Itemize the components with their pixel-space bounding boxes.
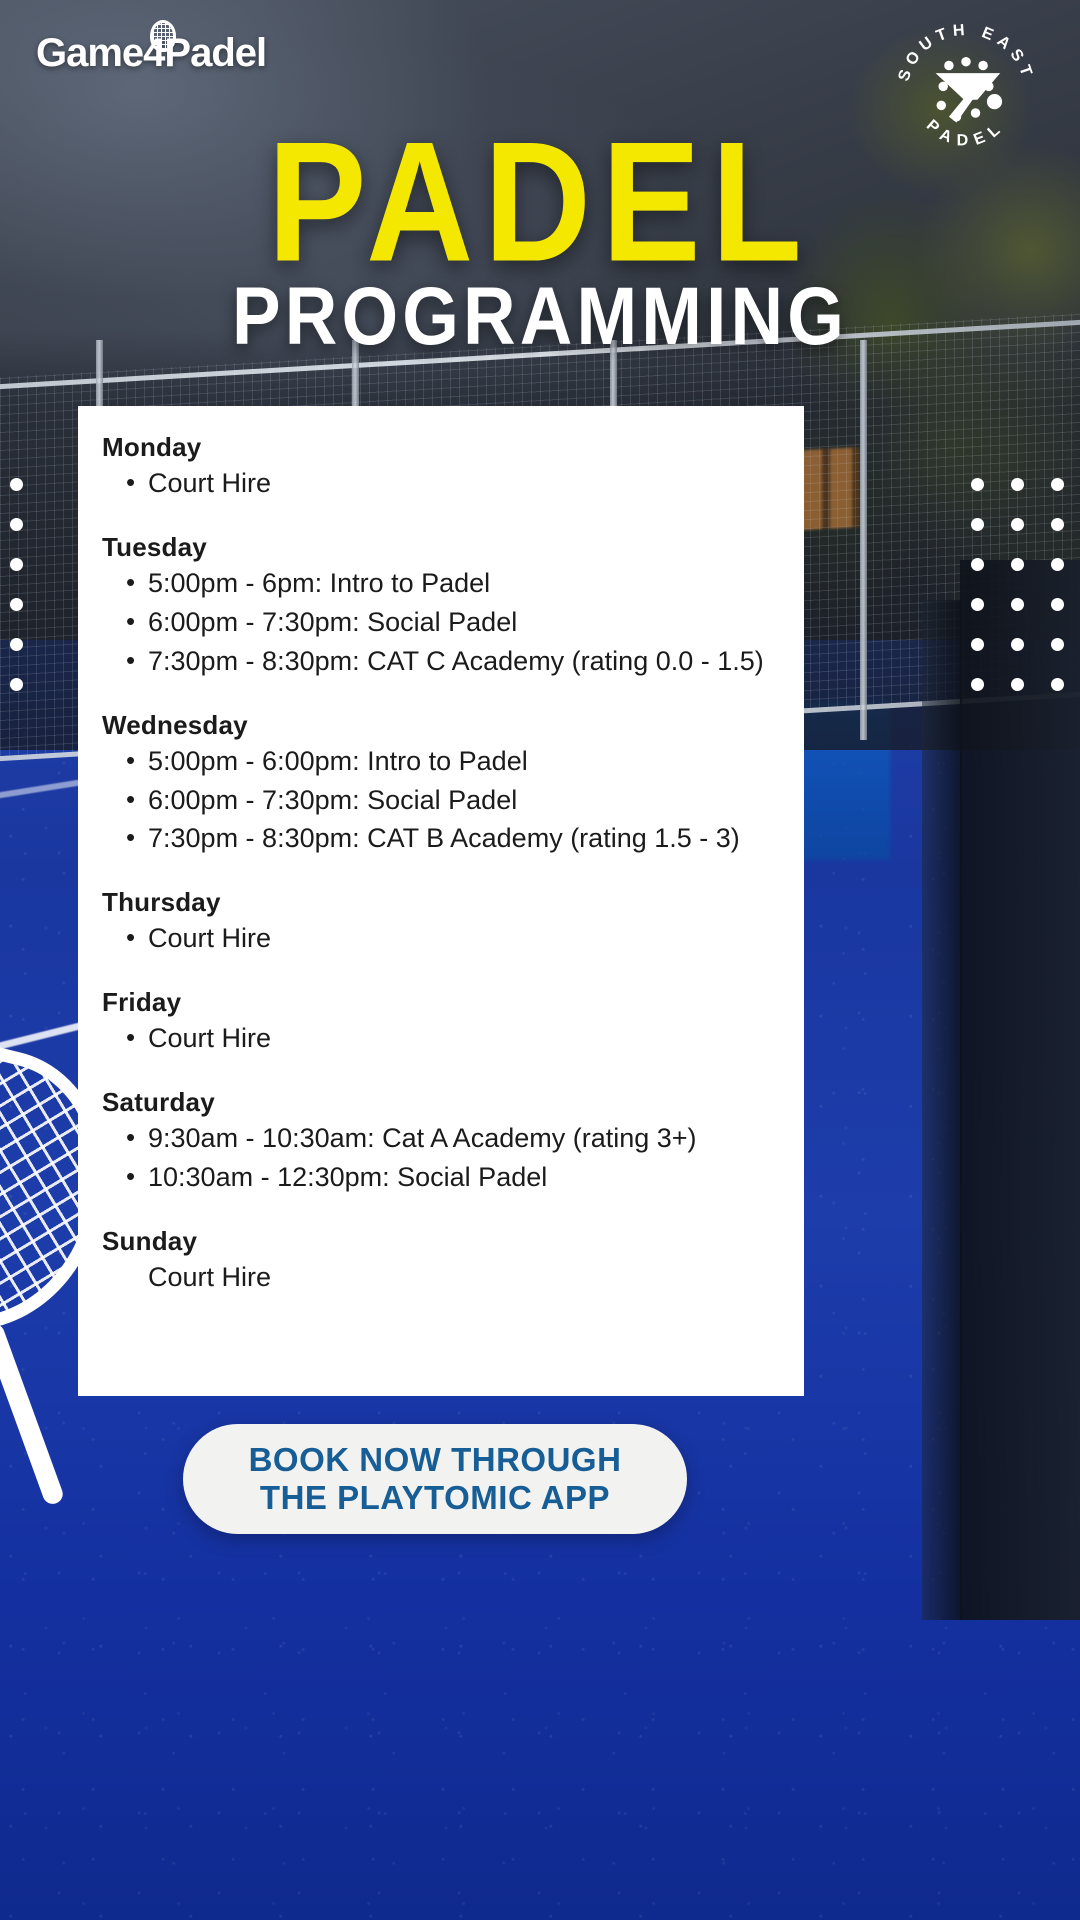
day-heading: Sunday (102, 1226, 774, 1257)
day-session-list: Court Hire (102, 921, 774, 957)
session-item: Court Hire (102, 921, 774, 957)
session-item: 7:30pm - 8:30pm: CAT B Academy (rating 1… (102, 821, 774, 857)
session-item: 6:00pm - 7:30pm: Social Padel (102, 605, 774, 641)
day-heading: Friday (102, 987, 774, 1018)
padel-programming-poster: Game4Padel SOUTH EAST PADEL PA (0, 0, 1080, 1920)
day-session-list: Court Hire (102, 1260, 774, 1296)
schedule-day-block: MondayCourt Hire (102, 432, 774, 502)
halftone-dots-right (971, 478, 1064, 691)
weekly-schedule-card: MondayCourt HireTuesday5:00pm - 6pm: Int… (78, 406, 804, 1396)
schedule-day-block: Saturday9:30am - 10:30am: Cat A Academy … (102, 1087, 774, 1196)
page-title-secondary: PROGRAMMING (0, 275, 1080, 356)
game4padel-logo: Game4Padel (36, 31, 266, 76)
book-now-button[interactable]: BOOK NOW THROUGH THE PLAYTOMIC APP (183, 1424, 687, 1534)
structure-pillar-inner (922, 600, 962, 1620)
session-item: Court Hire (102, 466, 774, 502)
session-item: 5:00pm - 6:00pm: Intro to Padel (102, 744, 774, 780)
day-session-list: 5:00pm - 6pm: Intro to Padel6:00pm - 7:3… (102, 566, 774, 680)
fence-post (860, 340, 867, 740)
day-session-list: Court Hire (102, 466, 774, 502)
cta-line-2: THE PLAYTOMIC APP (260, 1479, 610, 1517)
day-session-list: Court Hire (102, 1021, 774, 1057)
game4padel-logo-post: Padel (164, 31, 266, 76)
game4padel-logo-four: 4 (143, 31, 164, 76)
day-heading: Monday (102, 432, 774, 463)
day-heading: Thursday (102, 887, 774, 918)
day-heading: Wednesday (102, 710, 774, 741)
session-item: 5:00pm - 6pm: Intro to Padel (102, 566, 774, 602)
structure-pillar (960, 560, 1080, 1620)
session-item: 10:30am - 12:30pm: Social Padel (102, 1160, 774, 1196)
cta-line-1: BOOK NOW THROUGH (249, 1441, 622, 1479)
day-session-list: 5:00pm - 6:00pm: Intro to Padel6:00pm - … (102, 744, 774, 858)
schedule-day-block: FridayCourt Hire (102, 987, 774, 1057)
day-heading: Tuesday (102, 532, 774, 563)
halftone-dots-left (10, 478, 23, 691)
session-item: 9:30am - 10:30am: Cat A Academy (rating … (102, 1121, 774, 1157)
schedule-day-block: Wednesday5:00pm - 6:00pm: Intro to Padel… (102, 710, 774, 858)
session-item: 6:00pm - 7:30pm: Social Padel (102, 783, 774, 819)
schedule-day-block: ThursdayCourt Hire (102, 887, 774, 957)
schedule-day-block: SundayCourt Hire (102, 1226, 774, 1296)
day-heading: Saturday (102, 1087, 774, 1118)
game4padel-logo-pre: Game (36, 31, 143, 76)
day-session-list: 9:30am - 10:30am: Cat A Academy (rating … (102, 1121, 774, 1196)
session-item: Court Hire (102, 1260, 774, 1296)
session-item: 7:30pm - 8:30pm: CAT C Academy (rating 0… (102, 644, 774, 680)
page-title-primary: PADEL (0, 117, 1080, 288)
session-item: Court Hire (102, 1021, 774, 1057)
schedule-day-block: Tuesday5:00pm - 6pm: Intro to Padel6:00p… (102, 532, 774, 680)
